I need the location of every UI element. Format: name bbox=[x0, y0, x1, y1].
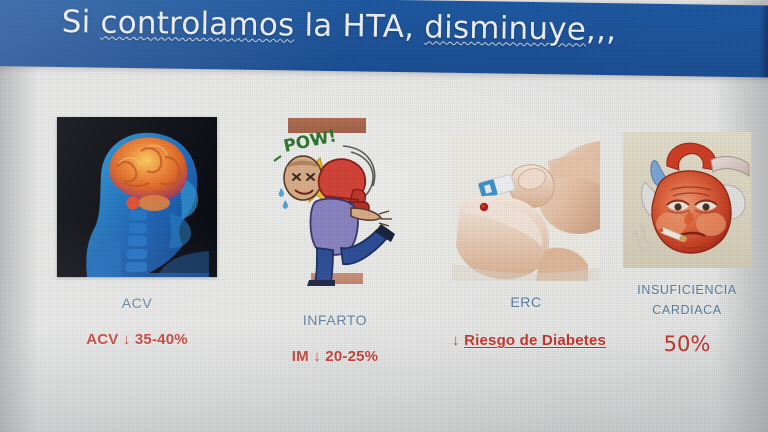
stat-erc-arrow: ↓ bbox=[452, 332, 460, 349]
stat-acv: ACV ↓ 35-40% bbox=[57, 331, 217, 348]
smoking-heart-illustration-image bbox=[623, 132, 751, 268]
stat-erc: ↓ Riesgo de Diabetes bbox=[452, 332, 600, 349]
caption-acv: ACV bbox=[57, 295, 217, 311]
title-middle: la HTA, bbox=[294, 7, 424, 45]
heart-attack-cartoon-image: POW! bbox=[255, 116, 415, 286]
column-acv: ACV ACV ↓ 35-40% bbox=[57, 117, 217, 348]
stat-insuficiencia-cardiaca: 50% bbox=[623, 332, 751, 356]
title-word-controlamos: controlamos bbox=[100, 5, 294, 44]
title-prefix: Si bbox=[61, 4, 100, 41]
presentation-slide-photo: Si controlamos la HTA, disminuye,,, bbox=[0, 0, 768, 432]
caption-ic-line1: INSUFICIENCIA bbox=[623, 280, 751, 300]
glucometer-finger-prick-image bbox=[452, 133, 600, 281]
svg-text:POW!: POW! bbox=[282, 126, 338, 157]
caption-infarto: INFARTO bbox=[255, 312, 415, 328]
caption-erc: ERC bbox=[452, 294, 600, 310]
column-erc: ERC ↓ Riesgo de Diabetes bbox=[452, 133, 600, 349]
stat-infarto: IM ↓ 20-25% bbox=[255, 348, 415, 365]
caption-ic-line2: CARDIACA bbox=[623, 300, 751, 320]
brain-xray-image bbox=[57, 117, 217, 277]
title-word-disminuye: disminuye bbox=[424, 9, 586, 47]
title-suffix: ,,, bbox=[586, 12, 617, 48]
stat-erc-value: Riesgo de Diabetes bbox=[464, 332, 606, 349]
column-infarto: POW! bbox=[255, 116, 415, 365]
column-insuficiencia-cardiaca: INSUFICIENCIA CARDIACA 50% bbox=[623, 132, 751, 356]
caption-insuficiencia-cardiaca: INSUFICIENCIA CARDIACA bbox=[623, 280, 751, 320]
